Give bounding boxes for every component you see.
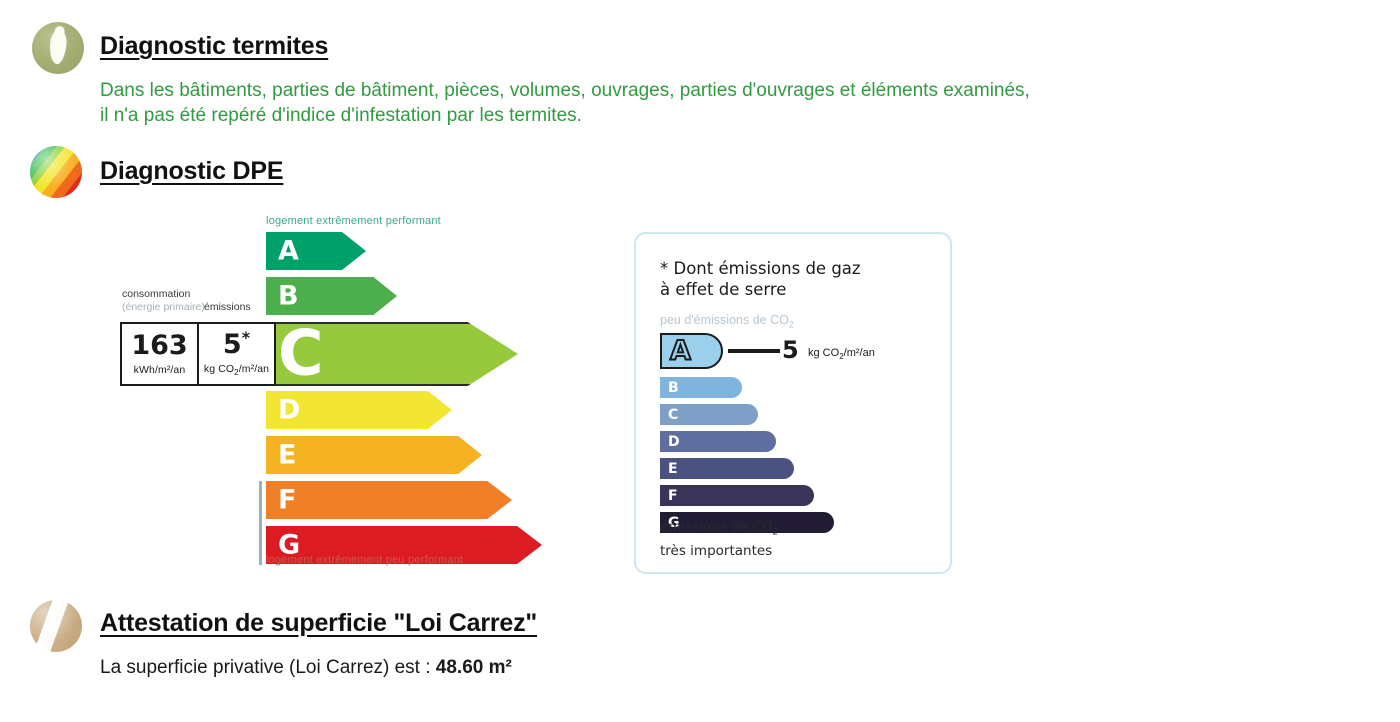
emissions-value: 5 bbox=[223, 329, 242, 360]
co2-caption-bottom: émissions de CO2 très importantes bbox=[660, 518, 778, 560]
page-title-dpe: Diagnostic DPE bbox=[100, 157, 283, 186]
rainbow-icon bbox=[30, 146, 82, 198]
co2-value-unit: kg CO2/m²/an bbox=[808, 347, 875, 361]
page-title-carrez: Attestation de superficie "Loi Carrez" bbox=[100, 609, 537, 638]
energy-bar-b-letter: B bbox=[278, 283, 299, 310]
energy-bar-c-highlighted: C bbox=[266, 322, 518, 386]
emissions-unit: kg CO2/m²/an bbox=[204, 363, 269, 377]
section-carrez: Attestation de superficie "Loi Carrez" L… bbox=[30, 600, 1370, 700]
co2-caption-bottom-line-1: émissions de CO2 bbox=[660, 518, 778, 542]
co2-emissions-panel: * Dont émissions de gaz à effet de serre… bbox=[634, 232, 952, 574]
co2-note: * Dont émissions de gaz à effet de serre bbox=[660, 258, 861, 300]
co2-bar-d: D bbox=[660, 431, 776, 452]
energy-bar-c-letter: C bbox=[278, 329, 324, 380]
consumption-unit: kWh/m²/an bbox=[134, 364, 186, 376]
emissions-label: émissions bbox=[204, 301, 251, 313]
co2-bar-f-letter: F bbox=[668, 489, 678, 503]
carrez-body: La superficie privative (Loi Carrez) est… bbox=[100, 655, 512, 680]
co2-bar-e: E bbox=[660, 458, 794, 479]
termite-icon bbox=[32, 22, 84, 74]
co2-bar-c: C bbox=[660, 404, 758, 425]
co2-bar-c-letter: C bbox=[668, 408, 678, 422]
co2-bar-a-letter: A bbox=[670, 338, 691, 365]
page-title-termites: Diagnostic termites bbox=[100, 32, 328, 61]
section-dpe-header: Diagnostic DPE bbox=[30, 146, 1370, 196]
dpe-value-box: 163 kWh/m²/an 5* kg CO2/m²/an bbox=[120, 322, 276, 386]
co2-bar-e-letter: E bbox=[668, 462, 678, 476]
carrez-body-prefix: La superficie privative (Loi Carrez) est… bbox=[100, 657, 436, 678]
energy-bar-a-letter: A bbox=[278, 238, 299, 265]
emissions-cell: 5* kg CO2/m²/an bbox=[197, 324, 274, 384]
energy-bar-e-letter: E bbox=[278, 442, 296, 469]
co2-leader-line bbox=[728, 349, 780, 353]
icon-gloss bbox=[30, 600, 82, 652]
energy-bar-d: D bbox=[266, 391, 452, 429]
termite-glyph bbox=[48, 29, 67, 64]
consumption-sublabel: (énergie primaire) bbox=[122, 301, 205, 313]
co2-caption-bottom-line-2: très importantes bbox=[660, 542, 778, 560]
co2-note-line-1: * Dont émissions de gaz bbox=[660, 258, 861, 279]
co2-bar-b: B bbox=[660, 377, 742, 398]
consumption-cell: 163 kWh/m²/an bbox=[122, 324, 197, 384]
energy-bar-d-letter: D bbox=[278, 397, 300, 424]
energy-performance-chart: logement extrêmement performant A B C D … bbox=[120, 215, 600, 575]
emissions-asterisk: * bbox=[242, 328, 250, 347]
energy-bar-e: E bbox=[266, 436, 482, 474]
co2-caption-top: peu d'émissions de CO2 bbox=[660, 313, 794, 330]
co2-bar-a-highlighted: A bbox=[660, 333, 723, 369]
consumption-label: consommation bbox=[122, 288, 190, 300]
energy-bar-b: B bbox=[266, 277, 397, 315]
scale-caption-bottom: logement extrêmement peu performant bbox=[266, 554, 463, 566]
section-termites: Diagnostic termites Dans les bâtiments, … bbox=[32, 22, 1372, 137]
emissions-value-wrap: 5* bbox=[223, 330, 250, 358]
ruler-icon bbox=[30, 600, 82, 652]
scale-caption-top: logement extrêmement performant bbox=[266, 215, 441, 227]
co2-bar-d-letter: D bbox=[668, 435, 680, 449]
carrez-area-value: 48.60 m² bbox=[436, 657, 512, 678]
co2-bar-b-letter: B bbox=[668, 381, 679, 395]
energy-bar-a: A bbox=[266, 232, 366, 270]
co2-value: 5 bbox=[782, 338, 799, 362]
energy-bar-f-letter: F bbox=[278, 487, 296, 514]
consumption-value: 163 bbox=[131, 332, 187, 359]
co2-bar-f: F bbox=[660, 485, 814, 506]
energy-bar-f: F bbox=[266, 481, 512, 519]
co2-note-line-2: à effet de serre bbox=[660, 279, 861, 300]
termites-body-line-1: Dans les bâtiments, parties de bâtiment,… bbox=[100, 78, 1030, 103]
icon-gloss bbox=[30, 146, 82, 198]
scale-guide-line bbox=[259, 481, 262, 565]
termites-body-line-2: il n'a pas été repéré d'indice d'infesta… bbox=[100, 103, 582, 128]
